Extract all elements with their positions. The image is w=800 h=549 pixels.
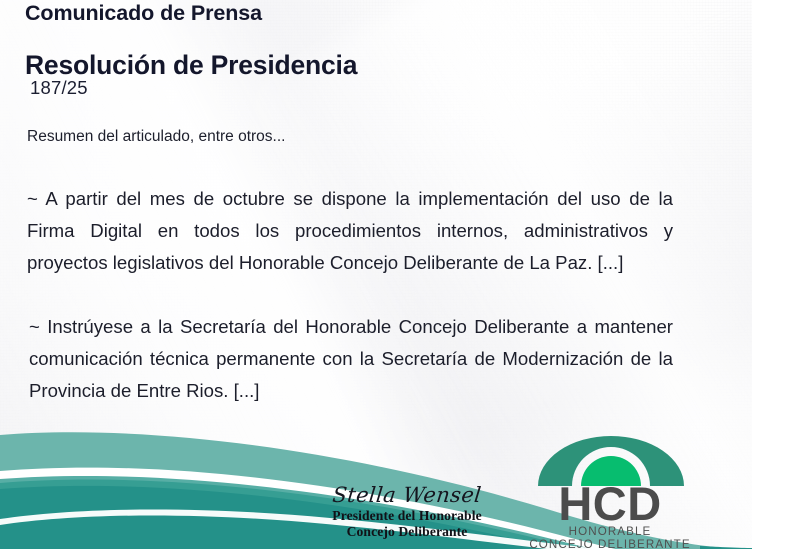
signature-name: Stella Wensel bbox=[299, 483, 516, 507]
signature-role-line-1: Presidente del Honorable bbox=[300, 508, 514, 524]
signature-role-line-2: Concejo Deliberante bbox=[300, 524, 514, 540]
poster-canvas: Comunicado de Prensa Resolución de Presi… bbox=[0, 0, 752, 549]
press-release-poster: Comunicado de Prensa Resolución de Presi… bbox=[0, 0, 800, 549]
kicker-heading: Comunicado de Prensa bbox=[25, 1, 262, 26]
article-paragraph: ~ A partir del mes de octubre se dispone… bbox=[27, 183, 673, 280]
resolution-number: 187/25 bbox=[30, 77, 88, 99]
article-paragraph: ~ Instrúyese a la Secretaría del Honorab… bbox=[29, 311, 673, 408]
hcd-logo: HCD HONORABLE CONCEJO DELIBERANTE Ciudad… bbox=[524, 436, 696, 546]
logo-wordmark: HCD bbox=[524, 480, 696, 527]
logo-subtitle-line-2: CONCEJO DELIBERANTE bbox=[524, 539, 696, 549]
logo-subtitle: HONORABLE CONCEJO DELIBERANTE Ciudad de … bbox=[524, 526, 696, 549]
signature-role: Presidente del Honorable Concejo Deliber… bbox=[300, 508, 514, 541]
summary-lead-text: Resumen del articulado, entre otros... bbox=[27, 128, 285, 146]
logo-subtitle-line-1: HONORABLE bbox=[524, 526, 696, 539]
signature-block: Stella Wensel Presidente del Honorable C… bbox=[300, 483, 514, 541]
poster-content: Comunicado de Prensa Resolución de Presi… bbox=[0, 0, 752, 549]
